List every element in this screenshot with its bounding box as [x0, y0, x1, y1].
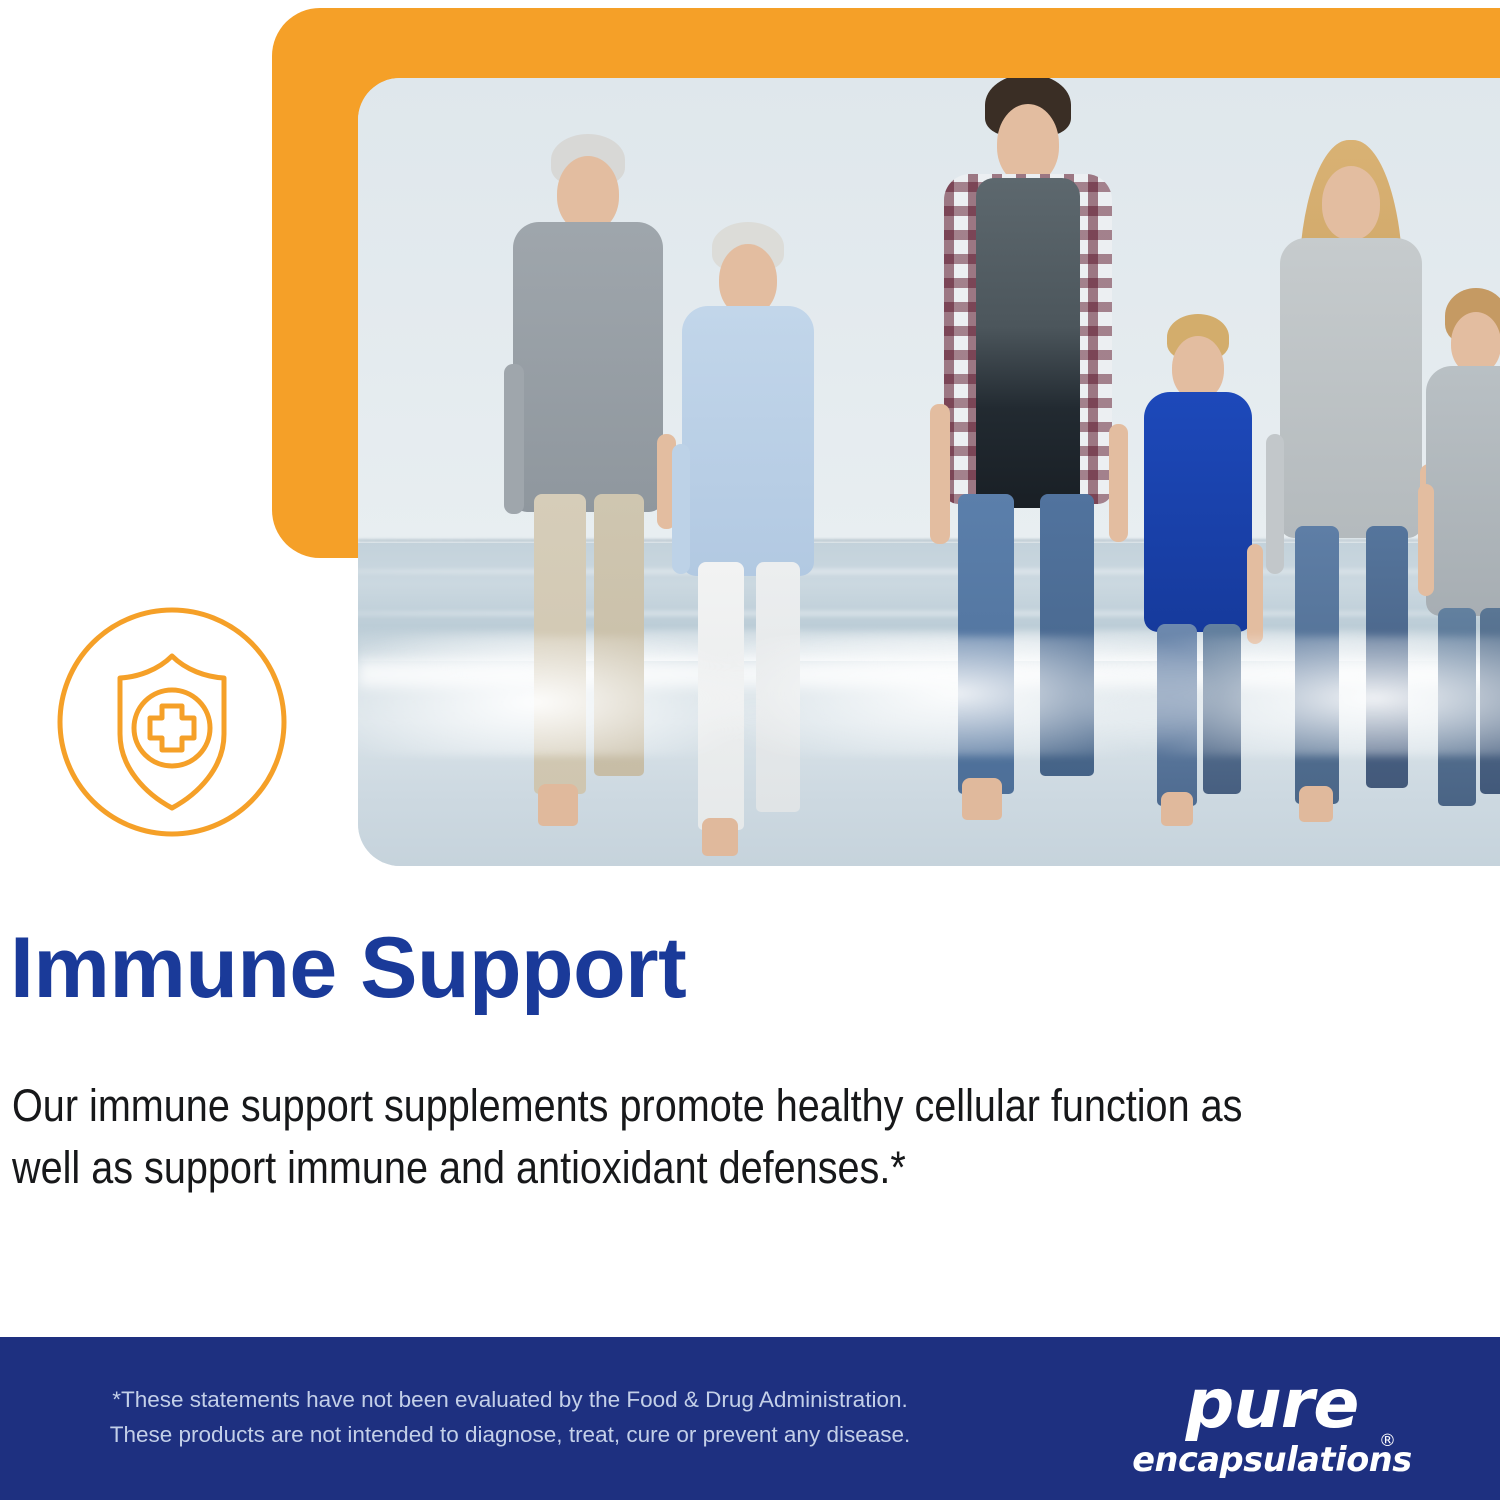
foam-overlay [358, 636, 1500, 756]
foot-left [962, 778, 1002, 820]
torso-sweater [1426, 366, 1500, 616]
footer-disclaimer: *These statements have not been evaluate… [40, 1383, 980, 1453]
torso-sweater [682, 306, 814, 576]
arm-left [1247, 544, 1263, 644]
arm-right [930, 404, 950, 544]
arm-left [1266, 434, 1284, 574]
foot-left [538, 784, 578, 826]
person-boy [1133, 314, 1263, 834]
page-title: Immune Support [10, 925, 686, 1011]
hero-photo [358, 78, 1500, 866]
head [1322, 166, 1380, 240]
torso-hoodie [1144, 392, 1252, 632]
shield-medical-cross-icon [52, 602, 292, 842]
disclaimer-line-1: *These statements have not been evaluate… [40, 1383, 980, 1418]
arm-left [1418, 484, 1434, 596]
vest-quilted [976, 178, 1080, 508]
foot-left [702, 818, 738, 856]
torso-sweater [513, 222, 663, 512]
logo-subword: encapsulations [1122, 1440, 1422, 1479]
logo-wordmark: pure [1122, 1373, 1422, 1438]
body-paragraph: Our immune support supplements promote h… [12, 1075, 1244, 1199]
footer-bar: *These statements have not been evaluate… [0, 1337, 1500, 1500]
foot-left [1299, 786, 1333, 822]
brand-logo: pure encapsulations ® [1122, 1373, 1422, 1479]
foot-left [1161, 792, 1193, 826]
head [997, 104, 1059, 184]
registered-trademark-icon: ® [1379, 1431, 1396, 1451]
torso-cardigan [1280, 238, 1422, 538]
arm-left [672, 444, 690, 574]
arm-left [1109, 424, 1128, 542]
beach-scene-illustration [358, 78, 1500, 866]
arm-left [504, 364, 524, 514]
head [1451, 312, 1500, 374]
head [557, 156, 619, 232]
head [1172, 336, 1224, 400]
disclaimer-line-2: These products are not intended to diagn… [40, 1418, 980, 1453]
